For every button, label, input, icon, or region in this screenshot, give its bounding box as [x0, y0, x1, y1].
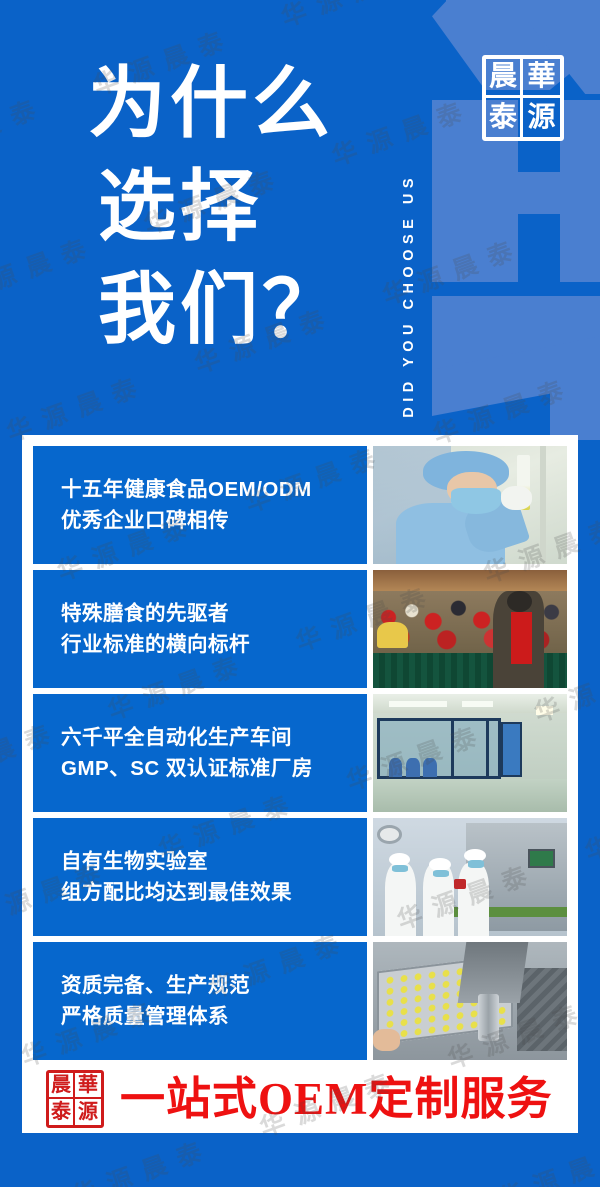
watermark-text: 华源晨泰 — [225, 0, 464, 1]
seal-char: 華 — [523, 59, 560, 98]
feature-photo — [373, 446, 567, 564]
seal-char: 泰 — [49, 1099, 75, 1125]
page-title-line-2: 选择 — [98, 155, 388, 258]
why-letter-h-part — [432, 172, 600, 214]
seal-char: 華 — [75, 1073, 101, 1099]
watermark-text: 华源晨泰 — [305, 1182, 544, 1187]
feature-row[interactable]: 资质完备、生产规范 严格质量管理体系 — [33, 942, 567, 1060]
page-title-line-3: 我们？ — [98, 258, 388, 361]
why-letter-h-part — [560, 214, 600, 282]
why-letter-h-part — [432, 214, 518, 282]
feature-line: 组方配比均达到最佳效果 — [61, 877, 367, 908]
feature-row[interactable]: 六千平全自动化生产车间 GMP、SC 双认证标准厂房 — [33, 694, 567, 812]
conference-hall-audience-image — [373, 570, 567, 688]
feature-list: 十五年健康食品OEM/ODM 优秀企业口碑相传 特殊膳食的先驱者 行业标准的横向… — [33, 446, 567, 1060]
feature-text-card: 特殊膳食的先驱者 行业标准的横向标杆 — [33, 570, 367, 688]
page-title-line-1: 为什么 — [88, 52, 388, 155]
feature-text-card: 十五年健康食品OEM/ODM 优秀企业口碑相传 — [33, 446, 367, 564]
why-letter-y-part — [550, 372, 600, 440]
feature-photo — [373, 818, 567, 936]
feature-text-card: 六千平全自动化生产车间 GMP、SC 双认证标准厂房 — [33, 694, 367, 812]
feature-line: GMP、SC 双认证标准厂房 — [61, 753, 367, 784]
feature-list-frame: 十五年健康食品OEM/ODM 优秀企业口碑相传 特殊膳食的先驱者 行业标准的横向… — [22, 435, 578, 1065]
feature-row[interactable]: 特殊膳食的先驱者 行业标准的横向标杆 — [33, 570, 567, 688]
vertical-tagline: DID YOU CHOOSE US — [394, 18, 424, 418]
feature-line: 十五年健康食品OEM/ODM — [61, 474, 367, 505]
seal-char: 晨 — [49, 1073, 75, 1099]
cleanroom-corridor-image — [373, 694, 567, 812]
feature-line: 资质完备、生产规范 — [61, 970, 367, 1001]
feature-text-card: 自有生物实验室 组方配比均达到最佳效果 — [33, 818, 367, 936]
seal-char: 泰 — [486, 98, 523, 137]
feature-photo — [373, 570, 567, 688]
bottom-banner: 晨 華 泰 源 一站式OEM定制服务 — [22, 1065, 578, 1133]
production-line-technicians-image — [373, 818, 567, 936]
vertical-tagline-text: DID YOU CHOOSE US — [401, 173, 417, 418]
seal-char: 源 — [523, 98, 560, 137]
feature-line: 行业标准的横向标杆 — [61, 629, 367, 660]
feature-line: 自有生物实验室 — [61, 846, 367, 877]
feature-line: 优秀企业口碑相传 — [61, 505, 367, 536]
seal-char: 晨 — [486, 59, 523, 98]
why-letter-w-part — [446, 0, 600, 26]
tablet-press-image — [373, 942, 567, 1060]
watermark-text: 华源晨泰 — [0, 276, 1, 483]
feature-row[interactable]: 自有生物实验室 组方配比均达到最佳效果 — [33, 818, 567, 936]
banner-slogan: 一站式OEM定制服务 — [120, 1077, 553, 1122]
lab-technician-inspecting-vial-image — [373, 446, 567, 564]
feature-line: 六千平全自动化生产车间 — [61, 722, 367, 753]
brand-seal-logo: 晨 華 泰 源 — [482, 55, 564, 141]
poster-canvas: DID YOU CHOOSE US 晨 華 泰 源 为什么 选择 我们？ 十五年… — [0, 0, 600, 1187]
seal-char: 源 — [75, 1099, 101, 1125]
feature-line: 严格质量管理体系 — [61, 1001, 367, 1032]
watermark-text: 华源晨泰 — [579, 767, 600, 974]
why-letter-y-part — [432, 296, 600, 374]
feature-row[interactable]: 十五年健康食品OEM/ODM 优秀企业口碑相传 — [33, 446, 567, 564]
why-letter-h-part — [560, 100, 600, 172]
feature-photo — [373, 942, 567, 1060]
brand-seal-logo-red: 晨 華 泰 源 — [46, 1070, 104, 1128]
feature-photo — [373, 694, 567, 812]
watermark-text: 华源晨泰 — [0, 0, 88, 137]
why-letter-y-part — [432, 330, 600, 416]
feature-line: 特殊膳食的先驱者 — [61, 598, 367, 629]
page-title: 为什么 选择 我们？ — [88, 52, 388, 361]
feature-text-card: 资质完备、生产规范 严格质量管理体系 — [33, 942, 367, 1060]
